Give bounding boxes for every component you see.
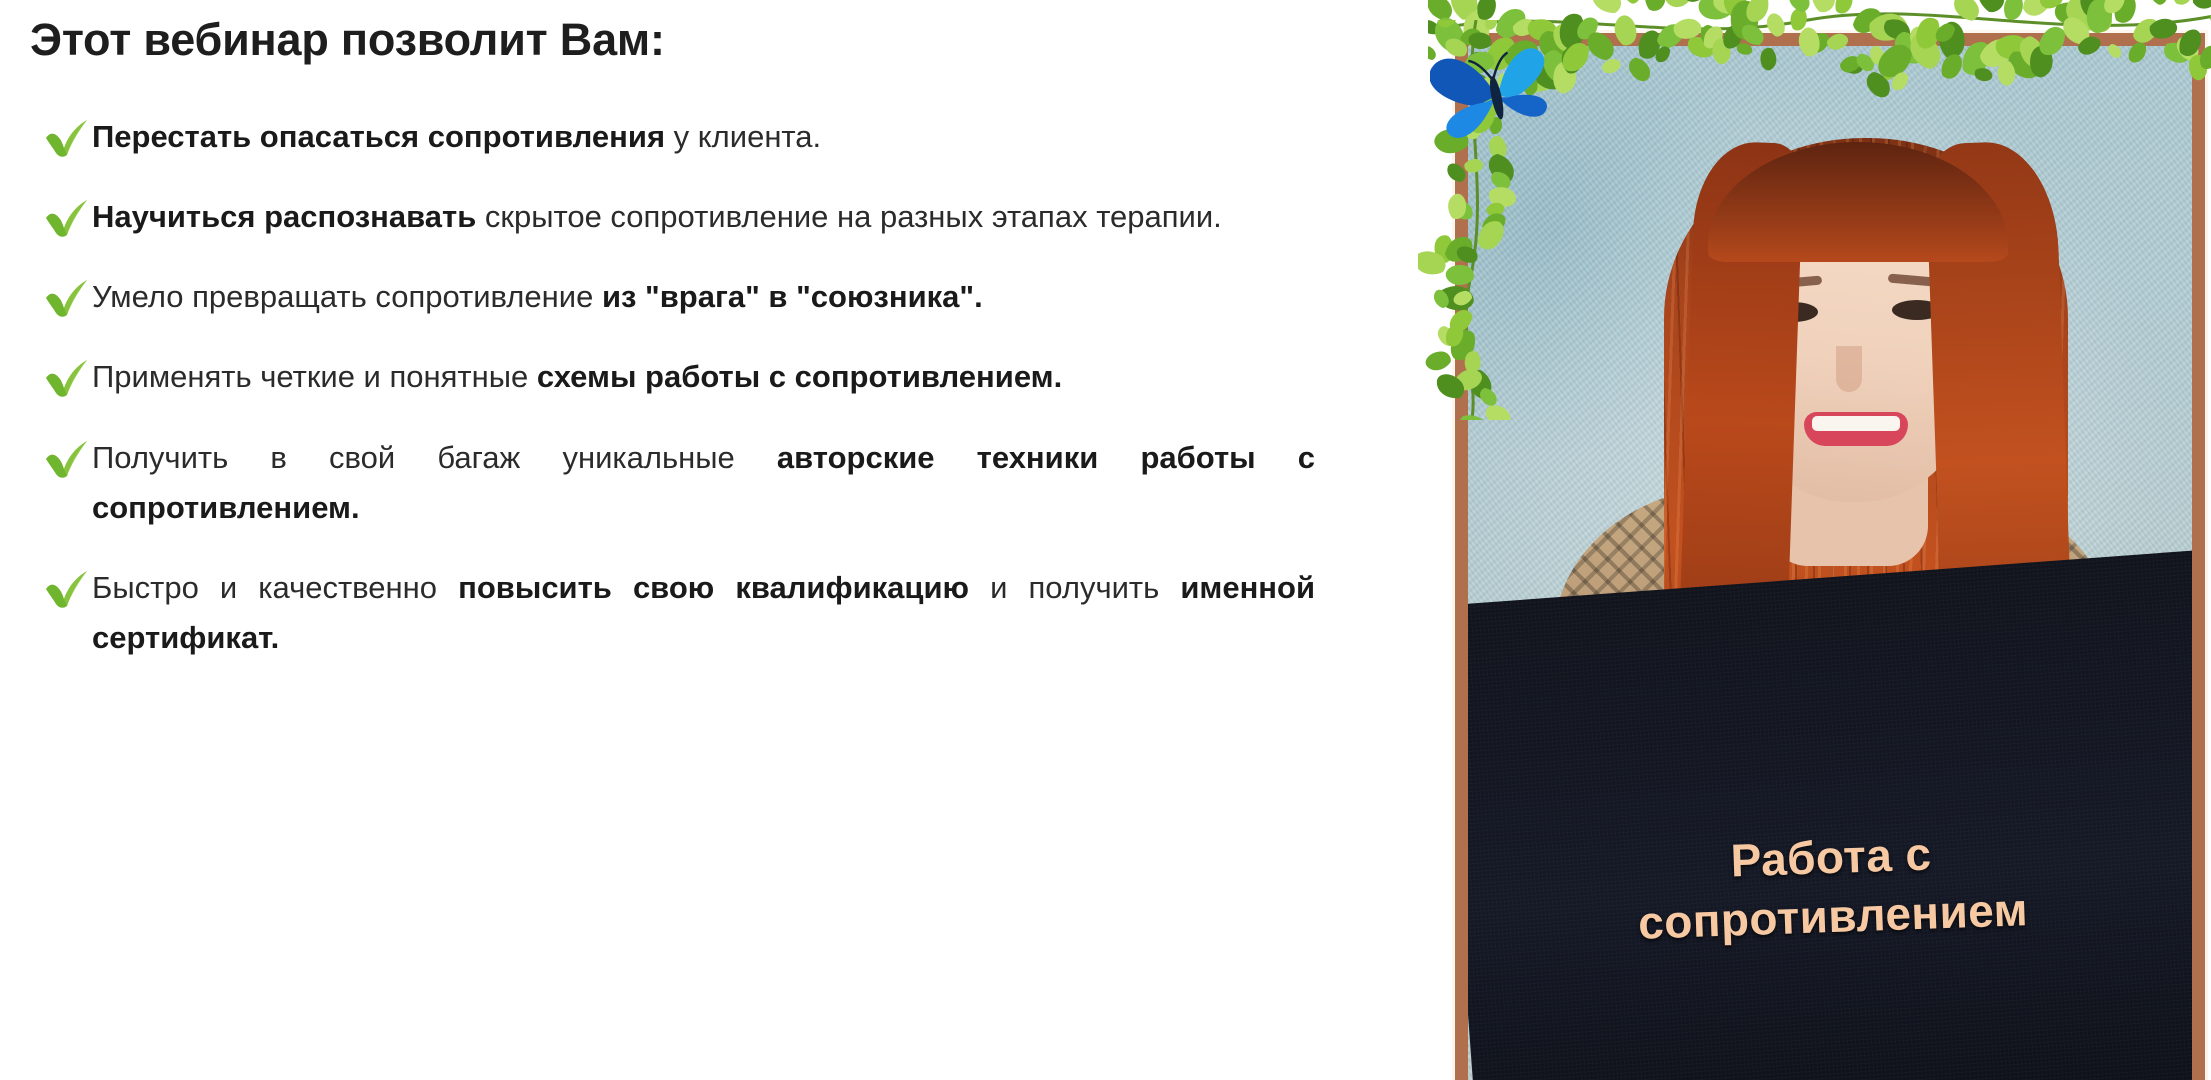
- benefit-text-part: и получить: [969, 570, 1180, 605]
- benefit-item-stop-fearing-resistance: Перестать опасаться сопротивления у клие…: [30, 112, 1315, 162]
- benefit-text: Умело превращать сопротивление из "врага…: [92, 272, 1315, 322]
- green-check-icon: [44, 198, 90, 238]
- green-check-icon: [44, 569, 90, 609]
- benefit-text-part: Быстро и качественно: [92, 570, 458, 605]
- banner-title: Работа с сопротивлением: [1484, 816, 2180, 958]
- benefits-list: Перестать опасаться сопротивления у клие…: [30, 112, 1360, 664]
- benefit-text-part: скрытое сопротивление на разных этапах т…: [476, 199, 1222, 234]
- benefit-text: Быстро и качественно повысить свою квали…: [92, 563, 1315, 663]
- benefit-text-part: Научиться распознавать: [92, 199, 476, 234]
- benefit-text-part: схемы работы с сопротивлением.: [537, 359, 1062, 394]
- benefit-item-apply-clear-schemes: Применять четкие и понятные схемы работы…: [30, 352, 1315, 402]
- webinar-benefits-page: Этот вебинар позволит Вам: Перестать опа…: [0, 0, 2211, 1080]
- benefit-item-turn-enemy-into-ally: Умело превращать сопротивление из "врага…: [30, 272, 1315, 322]
- benefit-item-raise-qualification: Быстро и качественно повысить свою квали…: [30, 563, 1315, 663]
- page-title: Этот вебинар позволит Вам:: [30, 14, 1360, 66]
- benefit-text-part: у клиента.: [665, 119, 821, 154]
- green-check-icon: [44, 118, 90, 158]
- benefit-text-part: повысить свою квалификацию: [458, 570, 969, 605]
- butterfly-icon: [1430, 28, 1560, 148]
- benefit-text-part: из "врага" в "союзника".: [602, 279, 983, 314]
- benefit-text: Перестать опасаться сопротивления у клие…: [92, 112, 1315, 162]
- green-check-icon: [44, 358, 90, 398]
- dark-banner-board: [1455, 540, 2205, 1080]
- nose: [1836, 346, 1862, 392]
- benefit-text: Научиться распознавать скрытое сопротивл…: [92, 192, 1315, 242]
- benefits-content-column: Этот вебинар позволит Вам: Перестать опа…: [0, 0, 1400, 1080]
- green-check-icon: [44, 439, 90, 479]
- benefit-text-part: Получить в свой багаж уникальные: [92, 440, 777, 475]
- promo-photo-panel: Работа с сопротивлением: [1400, 0, 2211, 1080]
- benefit-item-learn-to-recognize: Научиться распознавать скрытое сопротивл…: [30, 192, 1315, 242]
- benefit-text-part: Перестать опасаться сопротивления: [92, 119, 665, 154]
- green-check-icon: [44, 278, 90, 318]
- smiling-mouth: [1804, 412, 1908, 446]
- benefit-text-part: Применять четкие и понятные: [92, 359, 537, 394]
- photo-frame: Работа с сопротивлением: [1455, 33, 2205, 1080]
- benefit-text-part: Умело превращать сопротивление: [92, 279, 602, 314]
- benefit-item-get-author-techniques: Получить в свой багаж уникальные авторск…: [30, 433, 1315, 533]
- benefit-text: Применять четкие и понятные схемы работы…: [92, 352, 1315, 402]
- benefit-text: Получить в свой багаж уникальные авторск…: [92, 433, 1315, 533]
